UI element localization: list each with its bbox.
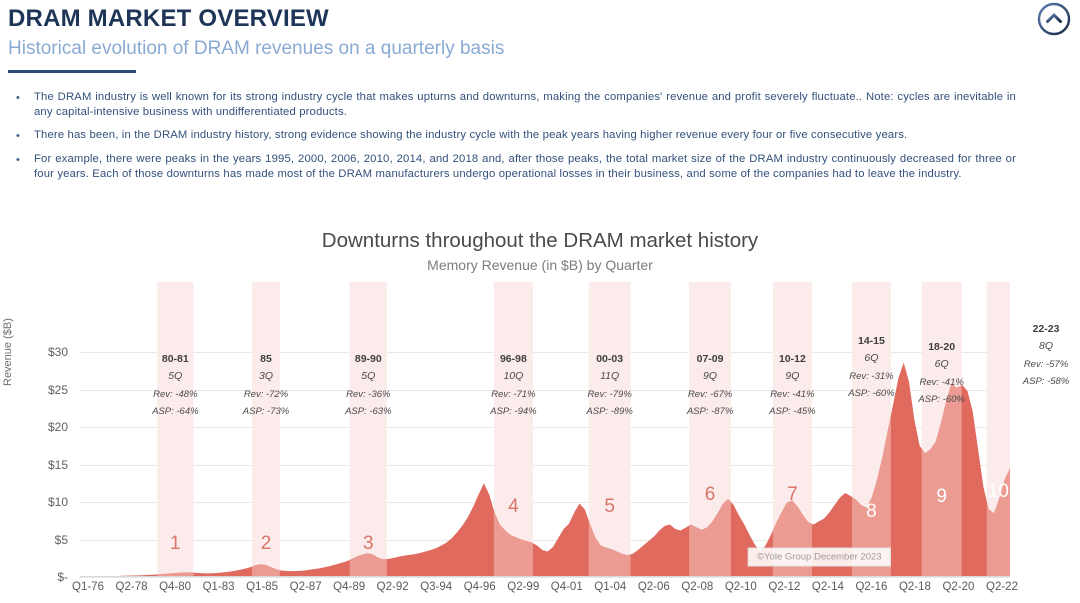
y-axis-tick-label: $- xyxy=(57,570,68,584)
x-axis-tick-label: Q1-04 xyxy=(594,581,626,593)
x-axis-tick-label: Q2-18 xyxy=(899,581,931,593)
x-axis-tick-label: Q2-78 xyxy=(116,581,148,593)
annotation-duration: 8Q xyxy=(1023,337,1069,356)
bullet-list: • The DRAM industry is well known for it… xyxy=(16,90,1016,190)
page-subtitle: Historical evolution of DRAM revenues on… xyxy=(8,36,768,62)
downturn-band xyxy=(589,282,631,577)
x-axis-tick-label: Q4-89 xyxy=(333,581,365,593)
bullet-text: There has been, in the DRAM industry his… xyxy=(34,128,1016,143)
x-axis-tick-label: Q1-76 xyxy=(72,581,104,593)
x-axis-tick-label: Q4-96 xyxy=(464,581,496,593)
chart-subtitle: Memory Revenue (in $B) by Quarter xyxy=(0,255,1080,275)
x-axis-tick-label: Q2-10 xyxy=(725,581,757,593)
downturn-band xyxy=(252,282,280,577)
page-header: DRAM MARKET OVERVIEW Historical evolutio… xyxy=(8,4,768,73)
list-item: • The DRAM industry is well known for it… xyxy=(16,90,1016,119)
x-axis-tick-label: Q2-99 xyxy=(507,581,539,593)
bullet-marker: • xyxy=(16,128,34,143)
x-axis-tick-label: Q2-22 xyxy=(986,581,1018,593)
title-underline-rule xyxy=(8,70,136,73)
x-axis-tick-label: Q2-06 xyxy=(638,581,670,593)
x-axis-tick-label: Q2-87 xyxy=(290,581,322,593)
area-chart-svg xyxy=(80,282,1010,577)
y-axis-tick-labels: $30$25$20$15$10$5$- xyxy=(0,352,74,577)
bullet-marker: • xyxy=(16,90,34,119)
downturn-band xyxy=(157,282,193,577)
x-axis-tick-label: Q1-85 xyxy=(246,581,278,593)
y-axis-tick-label: $15 xyxy=(48,458,68,472)
y-axis-tick-label: $25 xyxy=(48,383,68,397)
x-axis-baseline xyxy=(80,576,1010,577)
annotation-asp-change: ASP: -58% xyxy=(1023,373,1069,390)
x-axis-tick-label: Q4-01 xyxy=(551,581,583,593)
x-axis-tick-label: Q1-83 xyxy=(203,581,235,593)
y-axis-tick-label: $5 xyxy=(55,533,68,547)
x-axis-tick-label: Q2-16 xyxy=(855,581,887,593)
x-axis-tick-label: Q4-80 xyxy=(159,581,191,593)
x-axis-tick-label: Q3-94 xyxy=(420,581,452,593)
bullet-text: The DRAM industry is well known for its … xyxy=(34,90,1016,119)
y-axis-tick-label: $10 xyxy=(48,495,68,509)
x-axis-tick-label: Q2-20 xyxy=(942,581,974,593)
chevron-up-circle-icon[interactable] xyxy=(1037,2,1071,36)
downturn-band xyxy=(350,282,387,577)
x-axis-tick-labels: Q1-76Q2-78Q4-80Q1-83Q1-85Q2-87Q4-89Q2-92… xyxy=(80,581,1010,603)
bullet-marker: • xyxy=(16,152,34,181)
x-axis-tick-label: Q2-08 xyxy=(681,581,713,593)
chart-title: Downturns throughout the DRAM market his… xyxy=(0,228,1080,254)
chart-container: Downturns throughout the DRAM market his… xyxy=(0,228,1080,562)
downturn-annotation: 22-238QRev: -57%ASP: -58% xyxy=(1023,322,1069,390)
list-item: • There has been, in the DRAM industry h… xyxy=(16,128,1016,143)
x-axis-tick-label: Q2-12 xyxy=(768,581,800,593)
grid-line xyxy=(80,577,1010,578)
plot-area xyxy=(80,352,1010,577)
x-axis-tick-label: Q2-92 xyxy=(377,581,409,593)
y-axis-tick-label: $30 xyxy=(48,345,68,359)
x-axis-tick-label: Q2-14 xyxy=(812,581,844,593)
bullet-text: For example, there were peaks in the yea… xyxy=(34,152,1016,181)
annotation-revenue-change: Rev: -57% xyxy=(1023,356,1069,373)
y-axis-tick-label: $20 xyxy=(48,420,68,434)
page-title: DRAM MARKET OVERVIEW xyxy=(8,4,768,34)
plot-outer: Revenue ($B) $30$25$20$15$10$5$- 80-815Q… xyxy=(0,282,1080,554)
annotation-years: 22-23 xyxy=(1023,322,1069,337)
list-item: • For example, there were peaks in the y… xyxy=(16,152,1016,181)
